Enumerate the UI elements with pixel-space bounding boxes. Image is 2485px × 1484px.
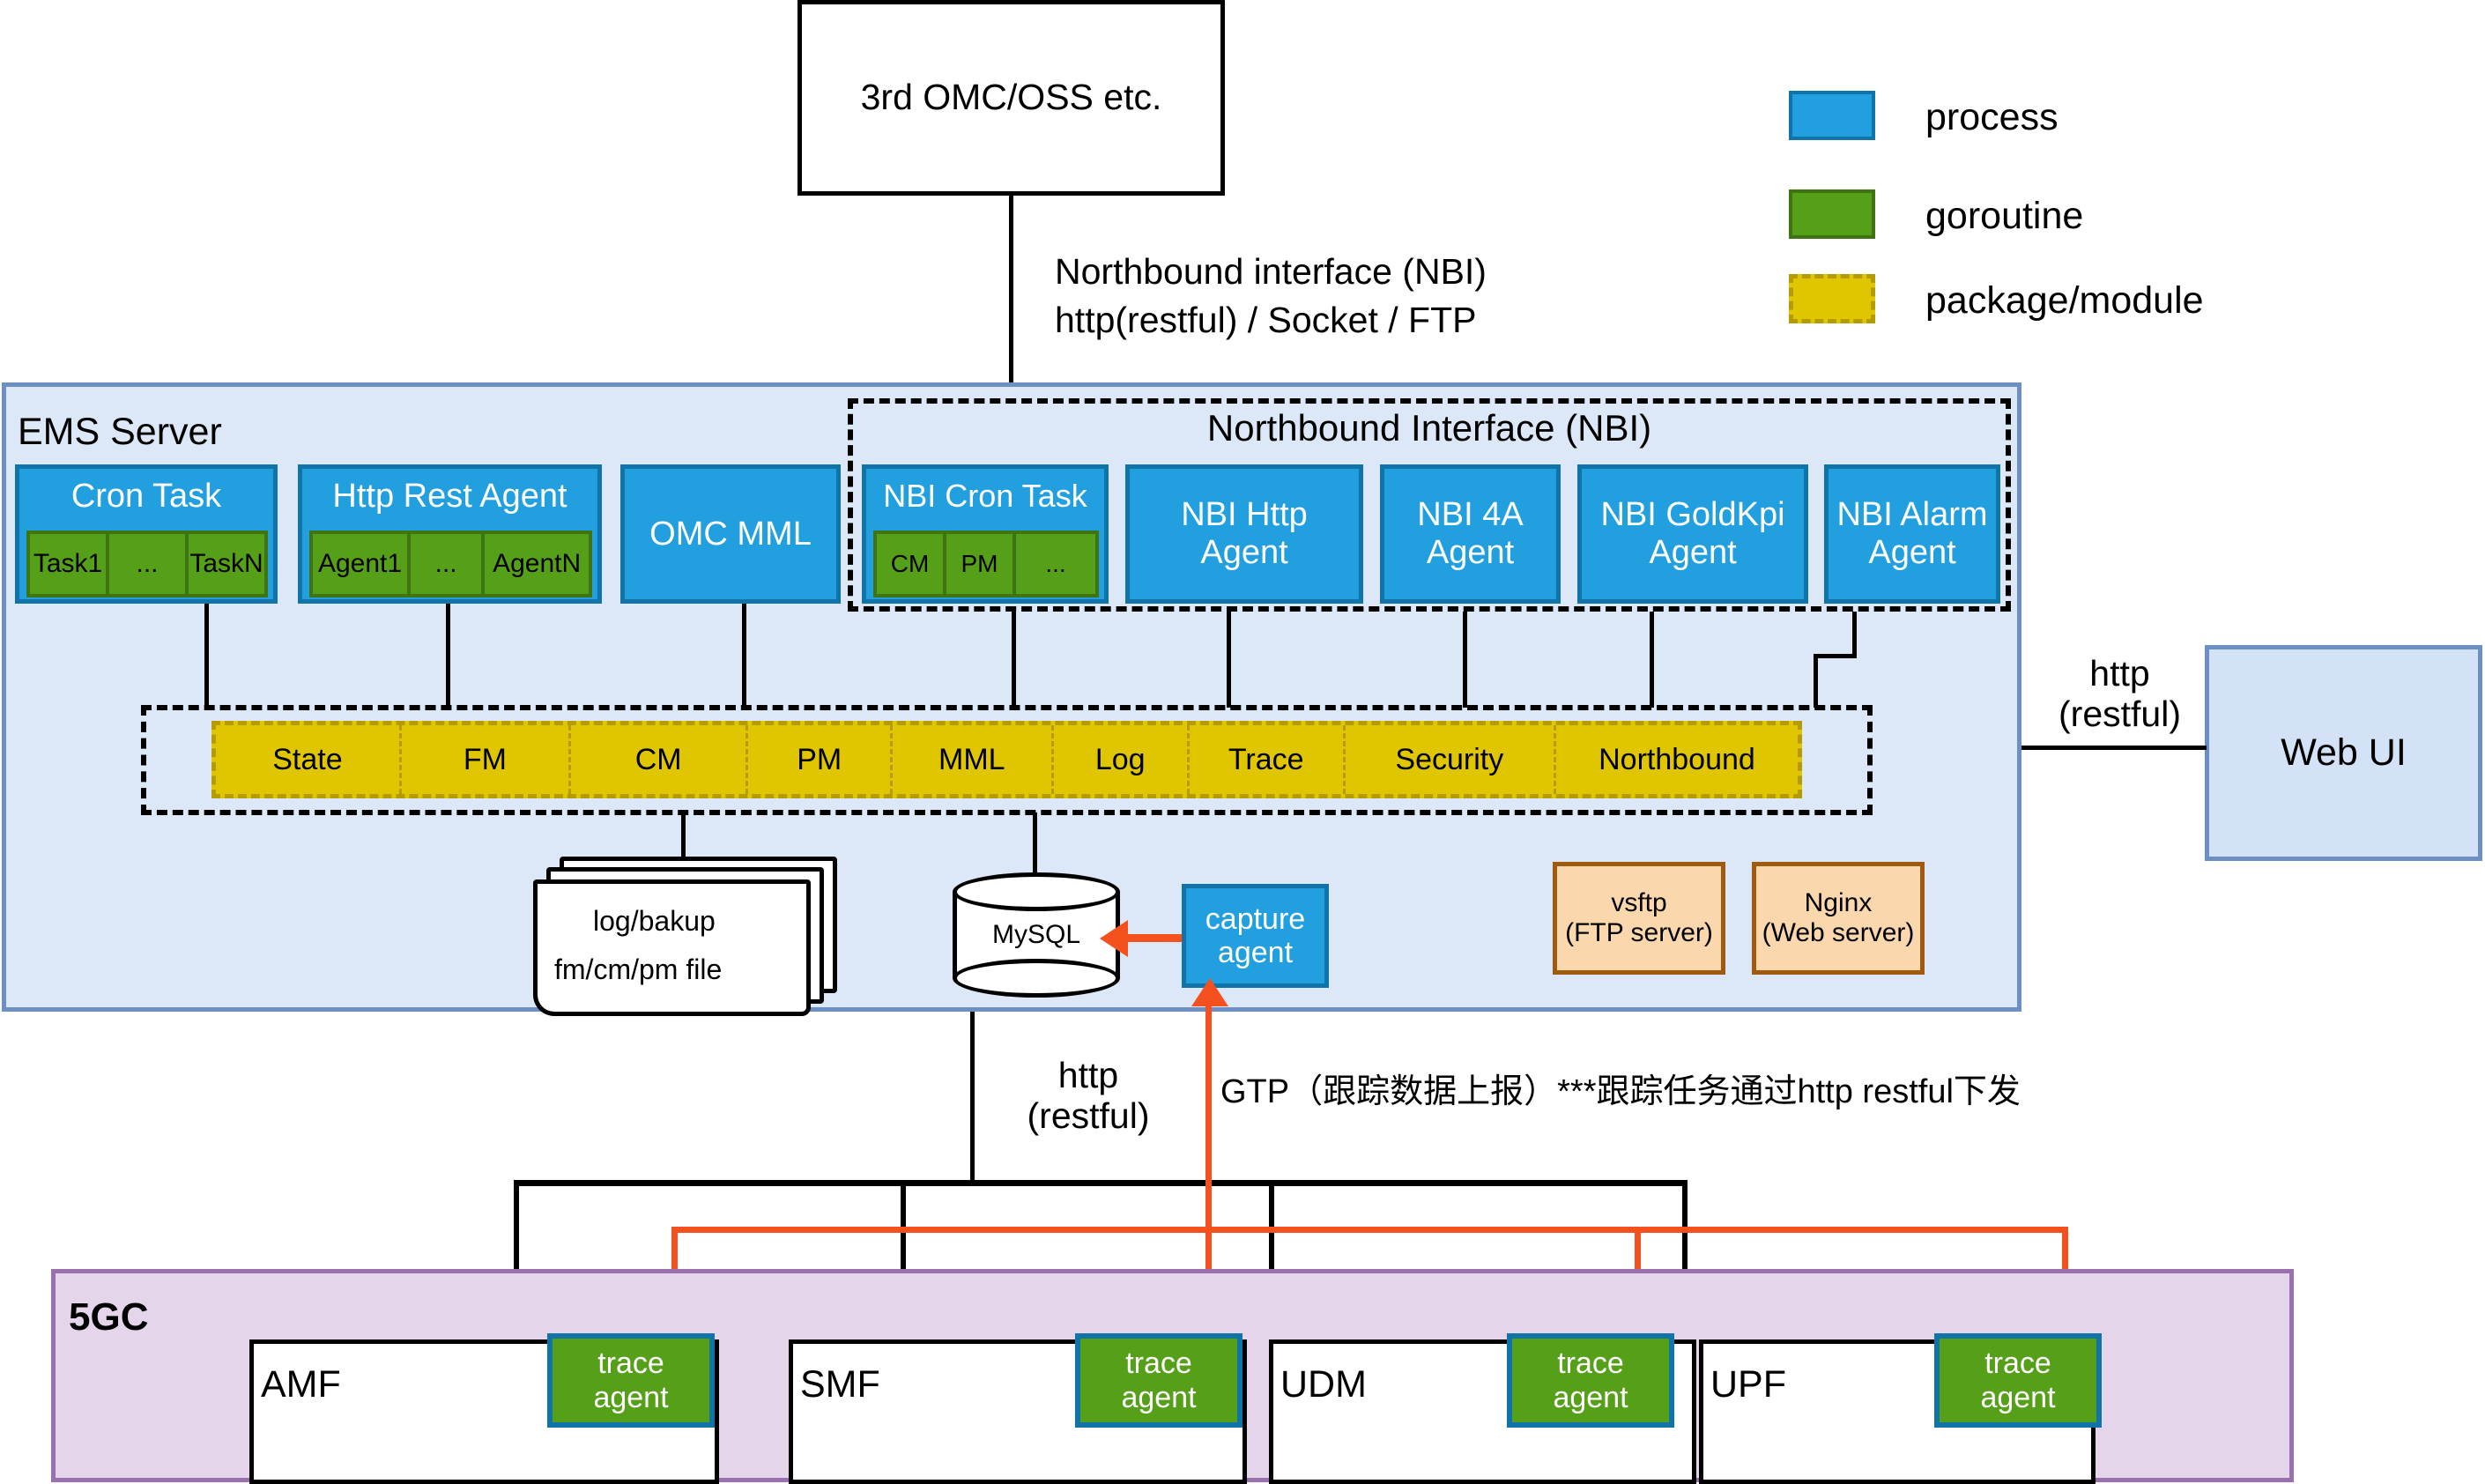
mysql-top-ellipse: [953, 872, 1120, 911]
server-vsftp-line1: vsftp: [1611, 888, 1666, 918]
legend-swatch-package: [1789, 274, 1875, 323]
connector-nbialarm-vert-lower: [1814, 654, 1818, 708]
architecture-diagram: 3rd OMC/OSS etc. Northbound interface (N…: [0, 0, 2485, 1484]
mysql-bottom-ellipse: [953, 959, 1120, 998]
process-nbi-alarm-agent-label: NBI Alarm Agent: [1833, 496, 1992, 571]
process-cron-task[interactable]: Cron Task Task1 ... TaskN: [15, 464, 278, 604]
process-nbi-goldkpi-agent-label: NBI GoldKpi Agent: [1590, 496, 1797, 571]
connector-cron-to-bus: [204, 604, 209, 708]
http-restful-bottom-label: http (restful): [1000, 1049, 1176, 1144]
goroutine-agent-ellipsis: ...: [411, 531, 485, 597]
trace-agent-amf[interactable]: trace agent: [547, 1333, 715, 1428]
bus-5gc-horizontal: [514, 1180, 1688, 1186]
database-mysql: MySQL: [953, 872, 1120, 998]
file-sheet-front: [533, 879, 811, 1016]
connector-omcmml-to-bus: [742, 604, 746, 708]
module-pm[interactable]: PM: [748, 725, 893, 794]
server-vsftp[interactable]: vsftp (FTP server): [1553, 862, 1725, 975]
connector-nbialarm-vert-upper: [1852, 612, 1857, 657]
server-nginx[interactable]: Nginx (Web server): [1752, 862, 1925, 975]
flow-trace-bus-horizontal: [671, 1227, 2068, 1233]
process-omc-mml-label: OMC MML: [649, 516, 812, 553]
node-web-ui[interactable]: Web UI: [2205, 645, 2482, 861]
module-cm[interactable]: CM: [571, 725, 748, 794]
goroutine-agentn[interactable]: AgentN: [485, 531, 592, 597]
module-northbound[interactable]: Northbound: [1556, 725, 1798, 794]
panel-5gc-title: 5GC: [69, 1295, 148, 1339]
connector-ems-to-webui: [2021, 746, 2207, 750]
trace-agent-udm-line1: trace: [1557, 1347, 1624, 1380]
process-cron-task-label: Cron Task: [19, 469, 273, 523]
legend: process goroutine package/module: [1789, 91, 2370, 320]
connector-omc-to-ems: [1009, 196, 1013, 385]
process-nbi-goldkpi-agent[interactable]: NBI GoldKpi Agent: [1577, 464, 1808, 604]
flow-capture-to-mysql-line: [1124, 934, 1188, 942]
goroutine-agent1[interactable]: Agent1: [309, 531, 411, 597]
process-nbi-cron-task[interactable]: NBI Cron Task CM PM ...: [862, 464, 1109, 604]
flow-capture-arrowhead: [1191, 978, 1228, 1006]
nf-amf-label: AMF: [261, 1363, 341, 1406]
file-store-label-line1: log/bakup: [593, 905, 716, 938]
trace-agent-upf-line2: agent: [1980, 1381, 2055, 1414]
ems-server-title: EMS Server: [18, 411, 222, 454]
trace-agent-amf-line2: agent: [593, 1381, 668, 1414]
goroutine-task1[interactable]: Task1: [26, 531, 109, 597]
node-3rd-omc-oss-label: 3rd OMC/OSS etc.: [861, 78, 1162, 118]
legend-label-goroutine: goroutine: [1925, 195, 2083, 238]
nf-upf-label: UPF: [1710, 1363, 1786, 1406]
module-trace[interactable]: Trace: [1190, 725, 1346, 794]
legend-swatch-goroutine: [1789, 189, 1875, 239]
process-capture-agent-line2: agent: [1218, 936, 1293, 969]
goroutine-pm[interactable]: PM: [946, 531, 1016, 597]
trace-agent-upf-line1: trace: [1984, 1347, 2051, 1380]
package-module-bus: State FM CM PM MML Log Trace Security No…: [211, 721, 1802, 798]
goroutine-cm[interactable]: CM: [873, 531, 946, 597]
http-restful-bottom-line1: http: [1058, 1056, 1118, 1096]
module-fm[interactable]: FM: [402, 725, 571, 794]
process-capture-agent[interactable]: capture agent: [1182, 884, 1329, 988]
connector-nbialarm-horz: [1814, 654, 1857, 658]
goroutine-taskn[interactable]: TaskN: [189, 531, 268, 597]
trace-agent-upf[interactable]: trace agent: [1934, 1333, 2102, 1428]
gtp-trace-note: GTP（跟踪数据上报）***跟踪任务通过http restful下发: [1220, 1064, 2021, 1112]
legend-label-package: package/module: [1925, 279, 2204, 323]
process-nbi-4a-agent-label: NBI 4A Agent: [1405, 496, 1537, 571]
server-nginx-line2: (Web server): [1762, 918, 1915, 948]
legend-swatch-process: [1789, 91, 1875, 140]
connector-nbigoldkpi-to-bus: [1650, 612, 1654, 708]
node-web-ui-label: Web UI: [2281, 731, 2407, 774]
module-mml[interactable]: MML: [893, 725, 1054, 794]
webui-link-label-line1: http: [2089, 654, 2149, 694]
connector-nbicron-to-bus: [1012, 612, 1016, 708]
trace-agent-udm[interactable]: trace agent: [1507, 1333, 1674, 1428]
process-capture-agent-line1: capture: [1205, 902, 1305, 936]
process-nbi-4a-agent[interactable]: NBI 4A Agent: [1380, 464, 1561, 604]
module-log[interactable]: Log: [1054, 725, 1190, 794]
process-http-rest-agent[interactable]: Http Rest Agent Agent1 ... AgentN: [298, 464, 602, 604]
file-store-stack: log/bakup fm/cm/pm file: [533, 857, 828, 998]
connector-nbihttp-to-bus: [1227, 612, 1231, 708]
file-store-label-line2: fm/cm/pm file: [554, 953, 722, 986]
nf-smf-label: SMF: [800, 1363, 880, 1406]
trace-agent-smf[interactable]: trace agent: [1075, 1333, 1242, 1428]
database-mysql-label: MySQL: [953, 920, 1120, 950]
legend-label-process: process: [1925, 96, 2058, 139]
webui-link-label: http (restful): [2043, 648, 2197, 740]
connector-nbi4a-to-bus: [1463, 612, 1467, 708]
process-nbi-alarm-agent[interactable]: NBI Alarm Agent: [1824, 464, 2000, 604]
process-nbi-http-agent[interactable]: NBI Http Agent: [1125, 464, 1363, 604]
process-omc-mml[interactable]: OMC MML: [620, 464, 841, 604]
trace-agent-amf-line1: trace: [597, 1347, 664, 1380]
module-security[interactable]: Security: [1346, 725, 1556, 794]
trace-agent-smf-line2: agent: [1121, 1381, 1196, 1414]
connector-httprest-to-bus: [446, 604, 450, 708]
goroutine-task-ellipsis: ...: [109, 531, 189, 597]
server-nginx-line1: Nginx: [1805, 888, 1873, 918]
module-state[interactable]: State: [216, 725, 402, 794]
http-restful-bottom-line2: (restful): [1027, 1096, 1150, 1137]
connector-bus-to-mysql: [1033, 812, 1037, 872]
webui-link-label-line2: (restful): [2058, 694, 2181, 735]
connector-ems-to-5gc-trunk: [970, 1012, 975, 1184]
goroutine-group-cron: Task1 ... TaskN: [26, 531, 268, 597]
trace-agent-smf-line1: trace: [1125, 1347, 1192, 1380]
nbi-group-title: Northbound Interface (NBI): [848, 407, 2011, 449]
goroutine-group-nbi-cron: CM PM ...: [873, 531, 1099, 597]
nf-udm-label: UDM: [1280, 1363, 1367, 1406]
nbi-link-label-line1: Northbound interface (NBI): [1055, 251, 1487, 293]
goroutine-nbi-ellipsis: ...: [1016, 531, 1099, 597]
node-3rd-omc-oss: 3rd OMC/OSS etc.: [797, 0, 1225, 196]
process-nbi-cron-task-label: NBI Cron Task: [866, 469, 1104, 523]
process-nbi-http-agent-label: NBI Http Agent: [1152, 496, 1337, 571]
nbi-link-label-line2: http(restful) / Socket / FTP: [1055, 300, 1476, 341]
flow-capture-vertical: [1205, 988, 1212, 1231]
goroutine-group-http-rest: Agent1 ... AgentN: [309, 531, 592, 597]
process-http-rest-agent-label: Http Rest Agent: [302, 469, 597, 523]
server-vsftp-line2: (FTP server): [1565, 918, 1713, 948]
trace-agent-udm-line2: agent: [1553, 1381, 1628, 1414]
